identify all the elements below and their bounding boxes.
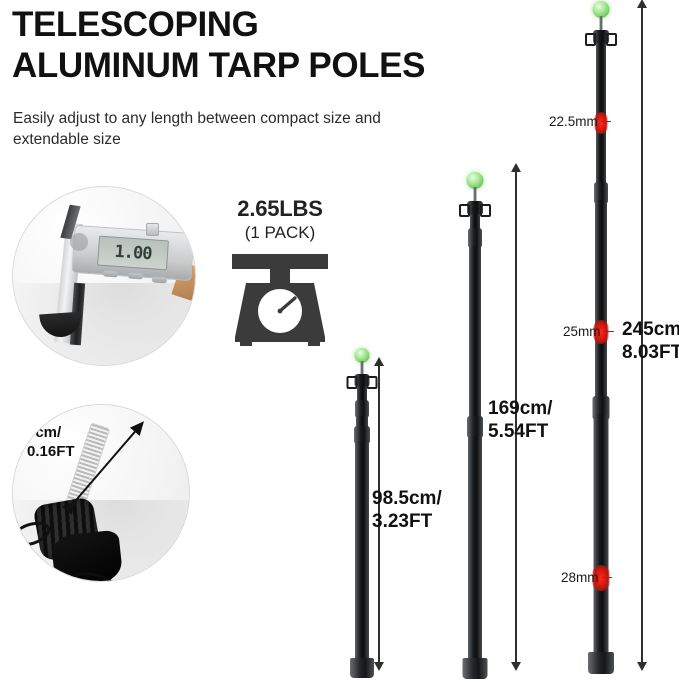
diameter-callout-top: 22.5mm (549, 114, 611, 129)
weighing-scale-icon (230, 254, 330, 346)
pole-segment-bottom (594, 414, 609, 658)
pole-segment-bottom (355, 442, 369, 664)
dimension-medium-cm: 169cm/ (488, 397, 552, 420)
caliper-button-1 (103, 270, 118, 277)
dimension-label-tall: 245cm/ 8.03FT (622, 318, 679, 364)
arrowhead-down-icon (511, 662, 521, 671)
arrowhead-down-icon (637, 662, 647, 671)
pole-segment-middle (595, 200, 607, 404)
caliper-button-2 (128, 272, 143, 279)
diameter-bottom-value: 28mm (561, 570, 599, 585)
title-line-1: TELESCOPING (12, 4, 482, 45)
diameter-callout-middle: 25mm (563, 324, 614, 339)
tip-length-cm: 5cm/ (27, 423, 75, 442)
tip-length-ft: 0.16FT (27, 442, 75, 461)
top-clamp (593, 30, 609, 44)
caliper-thumbwheel (146, 223, 159, 236)
clamp-wing-right (606, 33, 617, 46)
dimension-tall-cm: 245cm/ (622, 318, 679, 341)
arrowhead-up-icon (511, 163, 521, 172)
arrowhead-down-icon (374, 662, 384, 671)
pole-segment-bottom (468, 436, 482, 664)
dimension-short-ft: 3.23FT (372, 510, 442, 533)
arrowhead-up-icon (374, 357, 384, 366)
infographic-canvas: TELESCOPING ALUMINUM TARP POLES Easily a… (0, 0, 679, 682)
weight-pack-count: (1 PACK) (212, 223, 348, 243)
leader-line-icon (604, 331, 614, 333)
top-clamp (467, 201, 483, 215)
page-title: TELESCOPING ALUMINUM TARP POLES (12, 4, 482, 86)
leader-line-icon (602, 577, 612, 579)
dimension-label-medium: 169cm/ 5.54FT (488, 397, 552, 443)
dimension-tall-ft: 8.03FT (622, 341, 679, 364)
pole-foot (350, 658, 374, 678)
pole-foot (463, 658, 488, 679)
diameter-middle-value: 25mm (563, 324, 601, 339)
caliper-photo: 1.00 (12, 186, 196, 366)
title-line-2: ALUMINUM TARP POLES (12, 45, 482, 86)
dimension-label-short: 98.5cm/ 3.23FT (372, 487, 442, 533)
tip-length-label: 5cm/ 0.16FT (27, 423, 75, 461)
diameter-top-value: 22.5mm (549, 114, 598, 129)
diameter-callout-bottom: 28mm (561, 570, 612, 585)
joint-collar-2 (467, 416, 483, 438)
weight-value: 2.65LBS (212, 196, 348, 222)
leader-line-icon (601, 121, 611, 123)
weight-text: 2.65LBS (1 PACK) (212, 196, 348, 243)
caliper-button-3 (152, 276, 167, 283)
clamp-wing-right (367, 376, 378, 389)
pole-tip-photo: 5cm/ 0.16FT (12, 404, 190, 582)
dimension-short-cm: 98.5cm/ (372, 487, 442, 510)
subheading: Easily adjust to any length between comp… (13, 108, 443, 150)
pole-segment-middle (469, 246, 481, 426)
clamp-wing-left (585, 33, 596, 46)
clamp-wing-left (459, 204, 470, 217)
weight-callout: 2.65LBS (1 PACK) (212, 196, 348, 243)
arrowhead-up-icon (637, 0, 647, 8)
dimension-medium-ft: 5.54FT (488, 420, 552, 443)
clamp-wing-right (480, 204, 491, 217)
clamp-wing-left (347, 376, 358, 389)
joint-collar-1 (468, 228, 482, 248)
pole-foot (588, 652, 614, 674)
photo-shadow (12, 283, 196, 366)
caliper-lcd-value: 1.00 (114, 242, 152, 265)
caliper-lcd-display: 1.00 (97, 236, 169, 271)
